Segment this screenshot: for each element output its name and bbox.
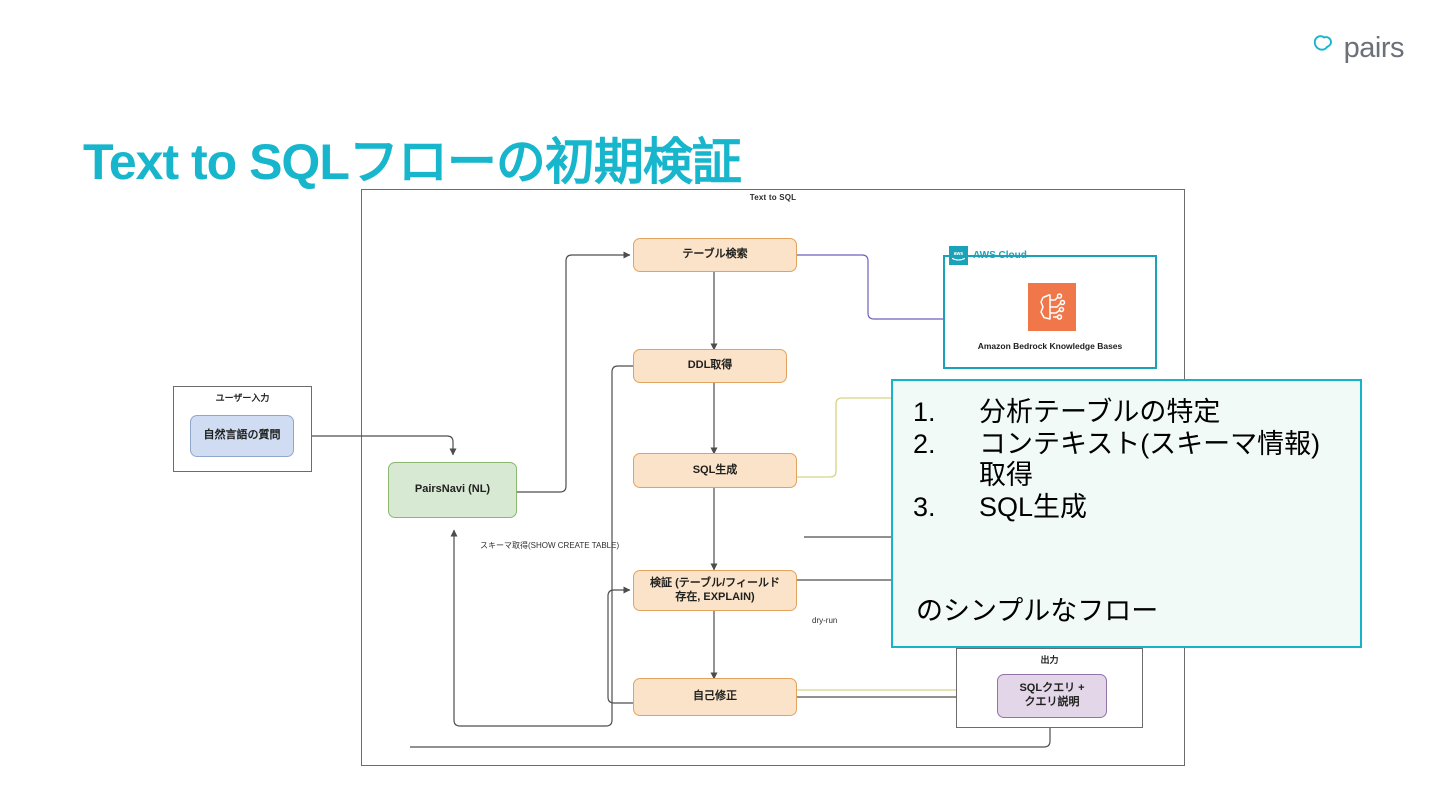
callout-list: 1. 分析テーブルの特定 2. コンテキスト(スキーマ情報)取得 3. SQL生… (893, 381, 1360, 523)
callout-item-number: 3. (913, 492, 979, 524)
callout-item-number: 1. (913, 397, 979, 429)
node-self-correct[interactable]: 自己修正 (633, 678, 797, 716)
node-pairsnavi[interactable]: PairsNavi (NL) (388, 462, 517, 518)
aws-cloud-header: aws AWS Cloud (949, 246, 1027, 265)
group-user-input-label: ユーザー入力 (174, 391, 311, 404)
svg-text:aws: aws (954, 251, 964, 257)
slide-canvas: pairs Text to SQLフローの初期検証 Text to SQL (0, 0, 1440, 810)
node-ddl-fetch-label: DDL取得 (688, 359, 733, 373)
node-validate-label: 検証 (テーブル/フィールド 存在, EXPLAIN) (650, 577, 780, 605)
bedrock-brain-icon (1028, 283, 1076, 331)
callout-item-text: 分析テーブルの特定 (979, 397, 1342, 429)
edge-label-schema-fetch: スキーマ取得(SHOW CREATE TABLE) (480, 540, 619, 551)
callout-item-text: SQL生成 (979, 492, 1342, 524)
node-sql-output-label: SQLクエリ + クエリ説明 (1019, 682, 1084, 710)
node-pairsnavi-label: PairsNavi (NL) (415, 483, 490, 497)
node-self-correct-label: 自己修正 (693, 690, 737, 704)
node-nl-question[interactable]: 自然言語の質問 (190, 415, 294, 457)
group-output-label: 出力 (957, 653, 1142, 666)
node-sql-output[interactable]: SQLクエリ + クエリ説明 (997, 674, 1107, 718)
callout-item-text: コンテキスト(スキーマ情報)取得 (979, 429, 1342, 492)
bedrock-service-label: Amazon Bedrock Knowledge Bases (945, 341, 1155, 351)
aws-cloud-label: AWS Cloud (973, 250, 1027, 261)
node-sql-generate-label: SQL生成 (693, 464, 738, 478)
callout-list-item: 2. コンテキスト(スキーマ情報)取得 (893, 429, 1360, 492)
node-table-search-label: テーブル検索 (682, 248, 747, 262)
callout-list-item: 1. 分析テーブルの特定 (893, 397, 1360, 429)
node-ddl-fetch[interactable]: DDL取得 (633, 349, 787, 383)
callout-card: 1. 分析テーブルの特定 2. コンテキスト(スキーマ情報)取得 3. SQL生… (891, 379, 1362, 648)
callout-footer: のシンプルなフロー (916, 589, 1158, 628)
group-aws-cloud: aws AWS Cloud Amazon Bedrock Knowledge B… (943, 255, 1157, 369)
callout-item-number: 2. (913, 429, 979, 461)
node-table-search[interactable]: テーブル検索 (633, 238, 797, 272)
node-nl-question-label: 自然言語の質問 (204, 429, 281, 443)
edge-label-dry-run: dry-run (812, 616, 837, 625)
node-validate[interactable]: 検証 (テーブル/フィールド 存在, EXPLAIN) (633, 570, 797, 611)
node-sql-generate[interactable]: SQL生成 (633, 453, 797, 488)
callout-list-item: 3. SQL生成 (893, 492, 1360, 524)
aws-logo-icon: aws (949, 246, 968, 265)
